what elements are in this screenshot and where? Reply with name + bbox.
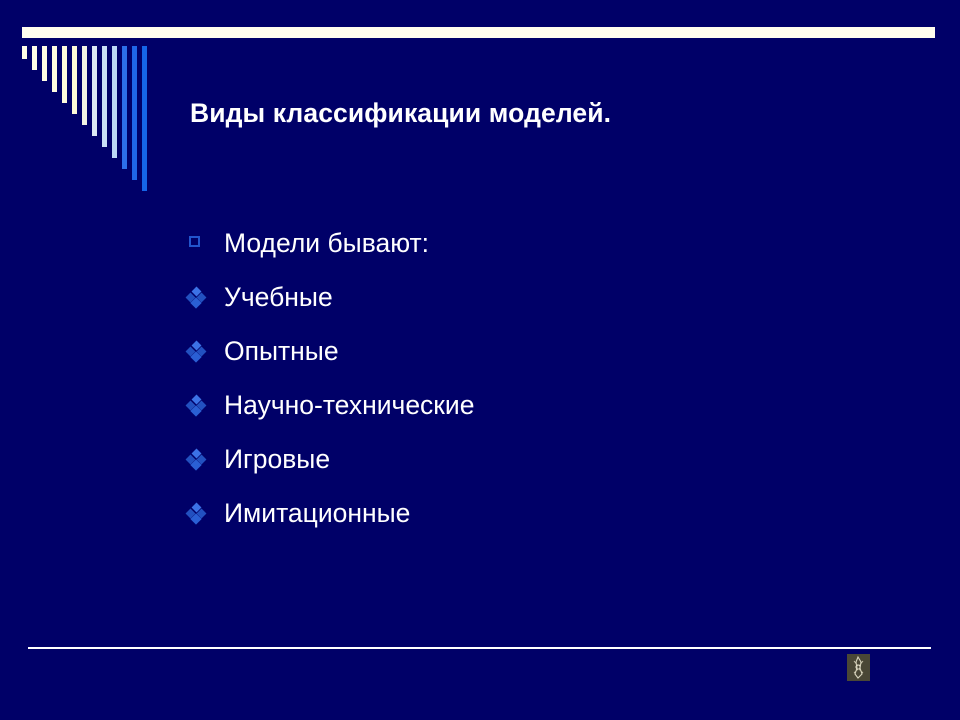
decor-bar — [142, 46, 147, 191]
slide-canvas: Виды классификации моделей. Модели бываю… — [0, 0, 960, 720]
list-item-label: Учебные — [224, 270, 333, 324]
decorative-bar-graphic — [22, 46, 167, 196]
footer-divider — [28, 647, 931, 649]
diamond-bullet-icon — [187, 288, 206, 307]
list-item: Научно-технические — [186, 378, 886, 432]
diamond-bullet-icon — [187, 450, 206, 469]
diamond-cluster-bullet — [186, 270, 224, 324]
page-title: Виды классификации моделей. — [190, 98, 890, 130]
decor-bar — [102, 46, 107, 147]
list-item-label: Опытные — [224, 324, 339, 378]
diamond-cluster-bullet — [186, 324, 224, 378]
diamond-bullet-icon — [187, 396, 206, 415]
list-item-label: Модели бывают: — [224, 216, 429, 270]
decor-bar — [82, 46, 87, 125]
logo-emblem-icon — [847, 654, 870, 681]
decor-bar — [62, 46, 67, 103]
decor-bar — [42, 46, 47, 81]
list-item: Имитационные — [186, 486, 886, 540]
list-item: Игровые — [186, 432, 886, 486]
list-item: Учебные — [186, 270, 886, 324]
decor-bar — [92, 46, 97, 136]
top-accent-band — [22, 27, 935, 38]
diamond-cluster-bullet — [186, 432, 224, 486]
decor-bar — [22, 46, 27, 59]
list-item-label: Имитационные — [224, 486, 410, 540]
list-item: Опытные — [186, 324, 886, 378]
square-bullet-icon — [189, 236, 200, 247]
decor-bar — [52, 46, 57, 92]
list-item: Модели бывают: — [186, 216, 886, 270]
diamond-bullet-icon — [187, 342, 206, 361]
hollow-square-bullet — [186, 216, 224, 270]
bullet-list: Модели бывают:УчебныеОпытныеНаучно-техни… — [186, 216, 886, 540]
list-item-label: Научно-технические — [224, 378, 474, 432]
decor-bar — [112, 46, 117, 158]
decor-bar — [132, 46, 137, 180]
diamond-bullet-icon — [187, 504, 206, 523]
diamond-cluster-bullet — [186, 378, 224, 432]
decor-bar — [72, 46, 77, 114]
footer-logo — [847, 654, 870, 681]
list-item-label: Игровые — [224, 432, 330, 486]
decor-bar — [32, 46, 37, 70]
diamond-cluster-bullet — [186, 486, 224, 540]
decor-bar — [122, 46, 127, 169]
